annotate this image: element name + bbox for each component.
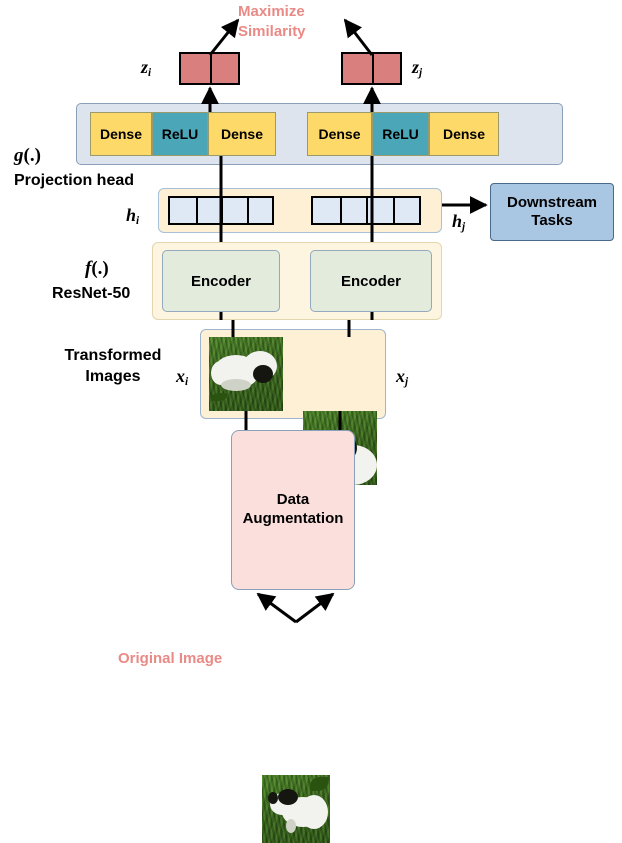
g-symbol: g (14, 145, 24, 166)
dog-marking (253, 365, 273, 383)
arrow-diagonal-icon (296, 594, 333, 622)
dense-block[interactable]: Dense (90, 112, 152, 156)
h-i-label: hi (126, 205, 139, 227)
dense-block[interactable]: Dense (307, 112, 372, 156)
h-j-cell (313, 198, 340, 223)
z-j-vector (341, 52, 402, 85)
dog-marking (278, 789, 298, 805)
h-j-subscript: j (462, 221, 465, 233)
data-augmentation-box[interactable]: Data Augmentation (231, 430, 355, 590)
projection-head-function-label: g(.) (14, 145, 41, 167)
dense-block[interactable]: Dense (208, 112, 276, 156)
z-j-subscript: j (419, 67, 422, 79)
arrow-diagonal-icon (210, 20, 238, 55)
original-image-label: Original Image (118, 650, 222, 667)
z-i-label: zi (141, 57, 151, 79)
original-image (262, 775, 330, 843)
dog-ear (268, 792, 278, 804)
z-i-subscript: i (148, 67, 151, 79)
z-j-cell (343, 54, 372, 83)
f-arg: (.) (91, 258, 108, 279)
relu-block[interactable]: ReLU (372, 112, 429, 156)
downstream-tasks-line1: Downstream (507, 194, 597, 212)
h-j-label: hj (452, 211, 465, 233)
projection-head-left-branch: Dense ReLU Dense (90, 112, 276, 156)
x-i-label: xi (176, 366, 188, 388)
x-j-symbol: x (396, 366, 405, 386)
h-i-subscript: i (136, 215, 139, 227)
h-j-cell (340, 198, 367, 223)
diagram-canvas: Maximize Similarity zi zj Dense ReLU Den… (0, 0, 622, 701)
h-i-symbol: h (126, 205, 136, 225)
dog-leg (286, 819, 296, 833)
data-augmentation-line1: Data (243, 491, 344, 510)
transformed-images-line2: Images (48, 366, 178, 387)
h-i-cell (221, 198, 247, 223)
dog-rear (300, 795, 328, 829)
z-i-vector (179, 52, 240, 85)
g-arg: (.) (24, 145, 41, 166)
downstream-tasks-box[interactable]: Downstream Tasks (490, 183, 614, 241)
z-j-label: zj (412, 57, 422, 79)
h-j-cell (366, 198, 393, 223)
data-augmentation-line2: Augmentation (243, 510, 344, 529)
h-i-cell (196, 198, 222, 223)
h-i-cell (247, 198, 273, 223)
maximize-similarity-line2: Similarity (238, 22, 398, 42)
h-i-cell (170, 198, 196, 223)
dog-shadow (221, 379, 251, 391)
encoder-name-label: ResNet-50 (52, 285, 130, 304)
dense-block[interactable]: Dense (429, 112, 499, 156)
x-i-symbol: x (176, 366, 185, 386)
h-j-symbol: h (452, 211, 462, 231)
x-i-subscript: i (185, 376, 188, 388)
arrow-diagonal-icon (258, 594, 296, 622)
encoder-left-box[interactable]: Encoder (162, 250, 280, 312)
encoder-right-box[interactable]: Encoder (310, 250, 432, 312)
projection-head-right-branch: Dense ReLU Dense (307, 112, 499, 156)
h-i-vector (168, 196, 274, 225)
z-i-symbol: z (141, 57, 148, 77)
z-i-cell (181, 54, 210, 83)
downstream-tasks-line2: Tasks (507, 212, 597, 230)
maximize-similarity-label: Maximize Similarity (238, 2, 398, 43)
maximize-similarity-line1: Maximize (238, 2, 398, 22)
z-j-cell (372, 54, 401, 83)
transformed-image-left (209, 337, 283, 411)
transformed-images-line1: Transformed (48, 345, 178, 366)
projection-head-name-label: Projection head (14, 172, 134, 191)
z-i-cell (210, 54, 239, 83)
z-j-symbol: z (412, 57, 419, 77)
h-j-vector (311, 196, 421, 225)
relu-block[interactable]: ReLU (152, 112, 208, 156)
transformed-images-label: Transformed Images (48, 345, 178, 387)
x-j-label: xj (396, 366, 408, 388)
encoder-function-label: f(.) (85, 258, 109, 280)
x-j-subscript: j (405, 376, 408, 388)
h-j-cell (393, 198, 420, 223)
